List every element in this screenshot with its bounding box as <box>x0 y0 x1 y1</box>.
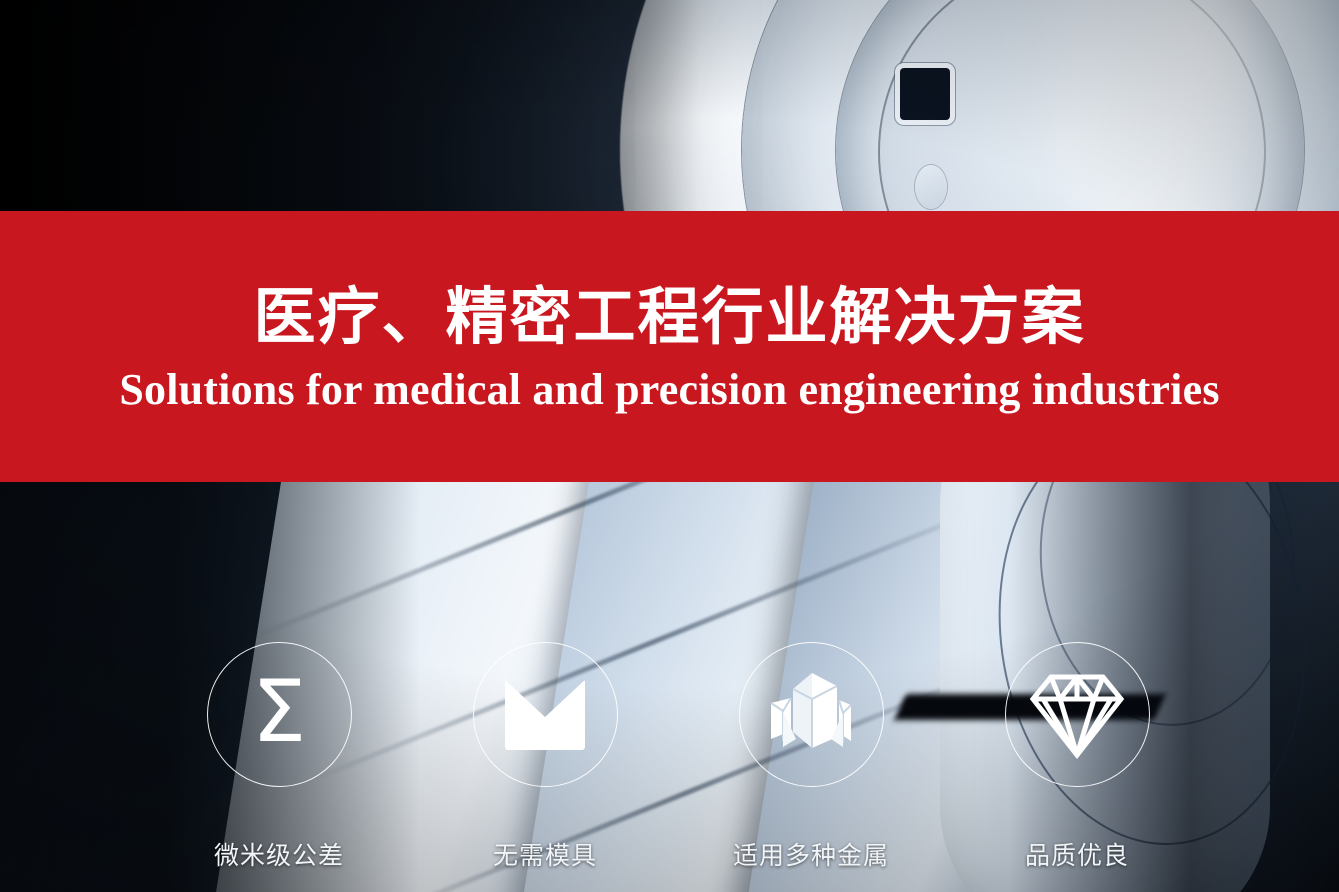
mold-die-icon <box>473 642 618 787</box>
headline-title-chinese: 医疗、精密工程行业解决方案 <box>253 285 1085 352</box>
headline-subtitle-english: Solutions for medical and precision engi… <box>119 366 1219 414</box>
feature-label: 微米级公差 <box>214 836 344 872</box>
feature-item-quality[interactable]: 品质优良 <box>994 642 1160 872</box>
feature-item-no-mold[interactable]: 无需模具 <box>462 642 628 872</box>
feature-item-micron-tolerance[interactable]: Σ 微米级公差 <box>196 642 362 872</box>
sigma-glyph: Σ <box>252 669 306 755</box>
feature-item-multi-metal[interactable]: 适用多种金属 <box>728 642 894 872</box>
mri-display-panel <box>900 68 950 120</box>
diamond-icon <box>1005 642 1150 787</box>
metal-crystals-icon <box>739 642 884 787</box>
top-left-shadow <box>0 0 700 215</box>
feature-label: 无需模具 <box>493 836 597 872</box>
feature-list: Σ 微米级公差 无需模具 <box>0 642 1339 872</box>
sigma-icon: Σ <box>207 642 352 787</box>
banner-slide: 医疗、精密工程行业解决方案 Solutions for medical and … <box>0 0 1339 892</box>
mri-control-button <box>915 165 947 209</box>
feature-label: 适用多种金属 <box>733 836 889 872</box>
headline-band: 医疗、精密工程行业解决方案 Solutions for medical and … <box>0 211 1339 482</box>
feature-label: 品质优良 <box>1025 836 1129 872</box>
